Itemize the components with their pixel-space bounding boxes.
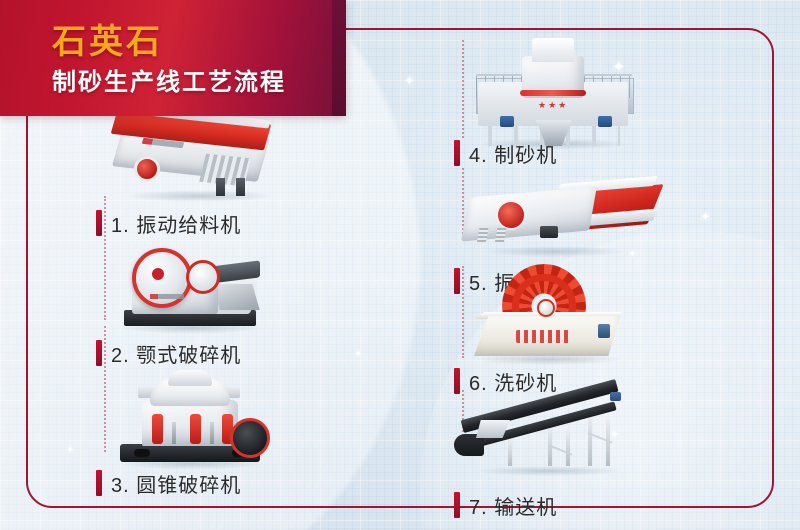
step-marker-bar [96, 340, 102, 366]
jaw-crusher-icon [90, 234, 320, 338]
step-2-jaw-crusher[interactable]: 2. 颚式破碎机 [62, 234, 402, 368]
belt-conveyor-icon [448, 386, 678, 490]
banner-right-edge [332, 0, 346, 116]
step-7-label: 7. 输送机 [469, 491, 557, 520]
step-7-belt-conveyor[interactable]: 7. 输送机 [420, 386, 760, 520]
cone-crusher-icon [90, 364, 320, 468]
step-6-sand-washer[interactable]: 6. 洗砂机 [420, 262, 760, 396]
right-column: ★★★ 4. 制砂机 5. 振动筛 [420, 0, 760, 530]
poster-title: 石英石 [52, 14, 163, 63]
vibrating-screen-icon [448, 162, 678, 266]
step-1-vibrating-feeder[interactable]: 1. 振动给料机 [62, 104, 402, 238]
title-banner: 石英石 制砂生产线工艺流程 [0, 0, 346, 116]
sand-making-machine-icon: ★★★ [448, 34, 678, 138]
step-marker-bar [96, 470, 102, 496]
poster-subtitle: 制砂生产线工艺流程 [52, 62, 286, 97]
step-marker-bar [96, 210, 102, 236]
step-3-label: 3. 圆锥破碎机 [111, 469, 241, 498]
step-4-sand-making-machine[interactable]: ★★★ 4. 制砂机 [420, 34, 760, 168]
step-3-label-row: 3. 圆锥破碎机 [96, 468, 402, 498]
quartz-sand-production-line-infographic: ✦ ✦ ✦ ✦ ✦ ✦ ✦ 1. 振动给料机 [0, 0, 800, 530]
vibrating-feeder-icon [90, 104, 320, 208]
step-7-label-row: 7. 输送机 [454, 490, 760, 520]
step-marker-bar [454, 492, 460, 518]
sand-washer-icon [448, 262, 678, 366]
step-3-cone-crusher[interactable]: 3. 圆锥破碎机 [62, 364, 402, 498]
brand-stars: ★★★ [538, 100, 568, 111]
